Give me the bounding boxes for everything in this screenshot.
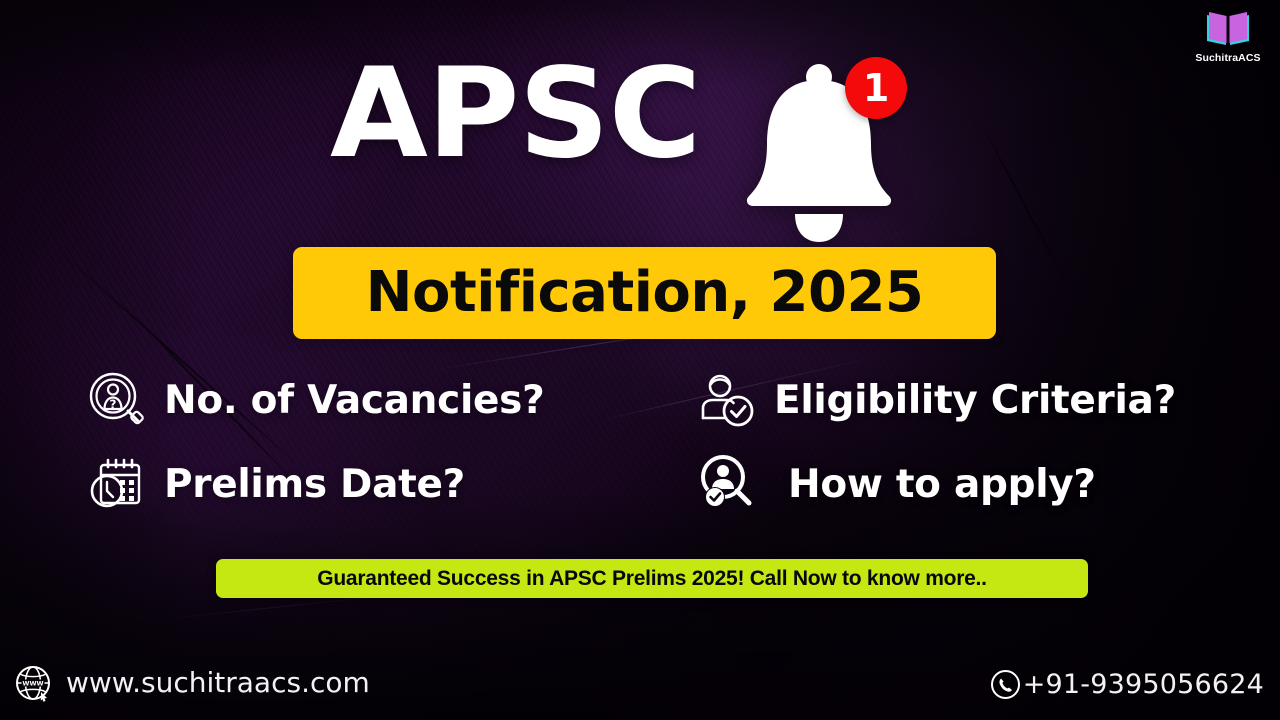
- person-search-check-icon: [698, 455, 756, 513]
- feature-list: ? No. of Vacancies? Eligibility Criteria…: [88, 358, 1198, 526]
- feature-item-prelims-date[interactable]: Prelims Date?: [88, 442, 688, 526]
- footer-website[interactable]: WWW www.suchitraacs.com: [14, 664, 370, 702]
- notification-badge: 1: [845, 57, 907, 119]
- feature-item-eligibility[interactable]: Eligibility Criteria?: [688, 358, 1188, 442]
- globe-www-icon: WWW: [14, 664, 52, 702]
- person-search-question-icon: ?: [88, 371, 146, 429]
- cta-text: Guaranteed Success in APSC Prelims 2025!…: [317, 568, 986, 589]
- subtitle-banner: Notification, 2025: [293, 247, 996, 339]
- website-url: www.suchitraacs.com: [66, 669, 370, 697]
- brand-logo[interactable]: SuchitraACS: [1186, 8, 1270, 64]
- poster-canvas: SuchitraACS APSC 1 Notification, 2025 ?: [0, 0, 1280, 720]
- feature-label-eligibility: Eligibility Criteria?: [774, 381, 1176, 420]
- feature-item-how-to-apply[interactable]: How to apply?: [688, 442, 1188, 526]
- footer-phone[interactable]: +91-9395056624: [990, 669, 1264, 700]
- open-book-icon: [1204, 8, 1252, 50]
- feature-label-prelims-date: Prelims Date?: [164, 465, 465, 504]
- page-title: APSC: [330, 56, 700, 174]
- svg-text:WWW: WWW: [22, 679, 43, 687]
- person-check-icon: [698, 371, 756, 429]
- feature-label-how-to-apply: How to apply?: [788, 465, 1096, 504]
- svg-text:?: ?: [110, 398, 117, 412]
- feature-label-vacancies: No. of Vacancies?: [164, 381, 544, 420]
- brand-name-label: SuchitraACS: [1195, 52, 1260, 64]
- cta-banner[interactable]: Guaranteed Success in APSC Prelims 2025!…: [216, 559, 1088, 598]
- subtitle-text: Notification, 2025: [366, 265, 924, 321]
- calendar-clock-icon: [88, 455, 146, 513]
- feature-item-vacancies[interactable]: ? No. of Vacancies?: [88, 358, 688, 442]
- hero-title-row: APSC 1: [330, 56, 899, 242]
- phone-number: +91-9395056624: [1023, 671, 1264, 698]
- phone-circle-icon: [990, 669, 1021, 700]
- notification-bell-group: 1: [739, 60, 899, 242]
